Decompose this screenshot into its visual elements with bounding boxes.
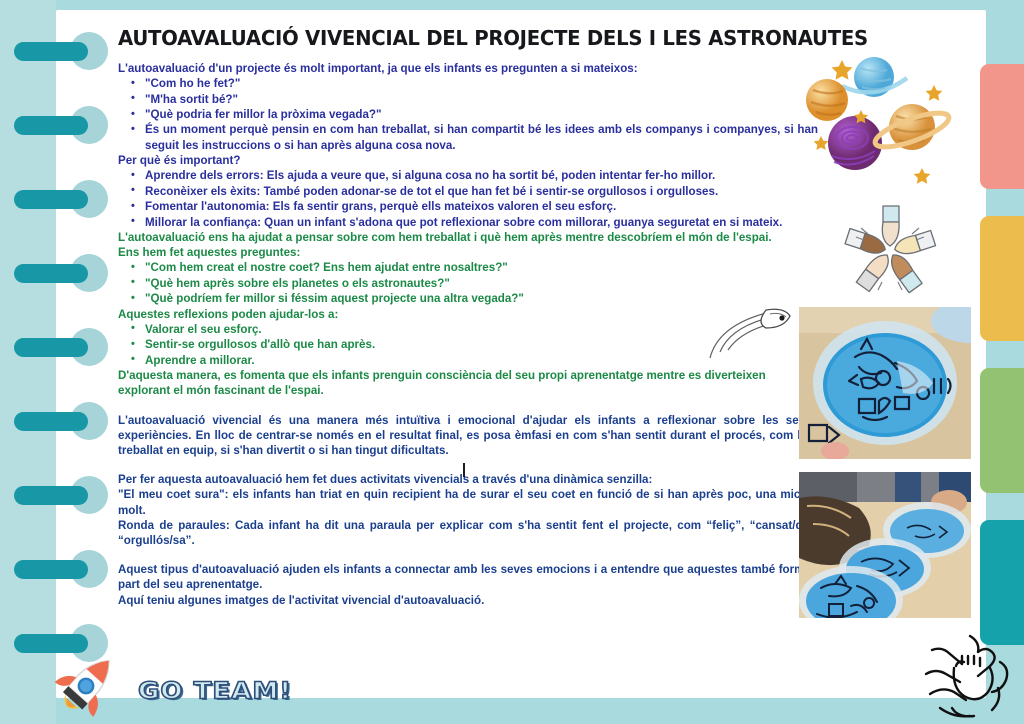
list-item: És un moment perquè pensin en com han tr…: [118, 122, 818, 153]
side-tab-teal[interactable]: [980, 520, 1024, 645]
blue-paragraph-1: L'autoavaluació vivencial és una manera …: [118, 413, 818, 459]
photo-three-bowls: [799, 472, 971, 618]
list-item: "Com hem creat el nostre coet? Ens hem a…: [118, 260, 818, 275]
list-item: Millorar la confiança: Quan un infant s'…: [118, 215, 818, 230]
list-item: "Com ho he fet?": [118, 76, 818, 91]
green-paragraph-1: L'autoavaluació ens ha ajudat a pensar s…: [118, 230, 818, 245]
blue-paragraph-4: Ronda de paraules: Cada infant ha dit un…: [118, 518, 818, 548]
blue-paragraph-2: Per fer aquesta autoavaluació hem fet du…: [118, 472, 818, 487]
planets-illustration: [812, 52, 972, 187]
intro-lead: L'autoavaluació d'un projecte és molt im…: [118, 61, 818, 76]
why-bullet-list: Aprendre dels errors: Els ajuda a veure …: [118, 168, 818, 230]
rocket-icon: [48, 648, 124, 724]
why-heading: Per què és important?: [118, 153, 818, 168]
planet-orange: [806, 79, 848, 121]
planet-saturn: [872, 104, 953, 154]
blue-paragraph-3: "El meu coet sura": els infants han tria…: [118, 487, 818, 517]
blue-paragraph-6: Aquí teniu algunes imatges de l'activita…: [118, 593, 818, 608]
spiral-ring: [14, 264, 88, 283]
list-item: "M'ha sortit bé?": [118, 92, 818, 107]
questions-heading: Ens hem fet aquestes preguntes:: [118, 245, 818, 260]
hands-circle-illustration: [820, 196, 960, 301]
spiral-ring: [14, 42, 88, 61]
binding-strip: [0, 0, 56, 724]
go-team-label: GO TEAM!: [138, 677, 292, 704]
intro-bullet-list: "Com ho he fet?" "M'ha sortit bé?" "Què …: [118, 76, 818, 153]
green-paragraph-2: D'aquesta manera, es fomenta que els inf…: [118, 368, 818, 398]
blue-paragraph-5: Aquest tipus d'autoavaluació ajuden els …: [118, 562, 818, 592]
list-item: Aprendre dels errors: Els ajuda a veure …: [118, 168, 818, 183]
spiral-ring: [14, 412, 88, 431]
planet-blue: [842, 57, 907, 97]
hands-stack-illustration: [916, 632, 1020, 720]
photo-bowl-blue-water: [799, 307, 971, 459]
list-item: "Què podria fer millor la pròxima vegada…: [118, 107, 818, 122]
spiral-ring: [14, 190, 88, 209]
page-title: AUTOAVALUACIÓ VIVENCIAL DEL PROJECTE DEL…: [118, 26, 790, 50]
list-item: "Què hem après sobre els planetes o els …: [118, 276, 818, 291]
comet-doodle-icon: [700, 300, 805, 362]
list-item: Reconèixer els èxits: També poden adonar…: [118, 184, 818, 199]
list-item: Fomentar l'autonomia: Els fa sentir gran…: [118, 199, 818, 214]
text-caret: [463, 463, 465, 477]
side-tab-amber[interactable]: [980, 216, 1024, 341]
spiral-ring: [14, 560, 88, 579]
side-tab-coral[interactable]: [980, 64, 1024, 189]
spiral-ring: [14, 486, 88, 505]
side-tab-green[interactable]: [980, 368, 1024, 493]
spiral-ring: [14, 338, 88, 357]
spiral-ring: [14, 116, 88, 135]
